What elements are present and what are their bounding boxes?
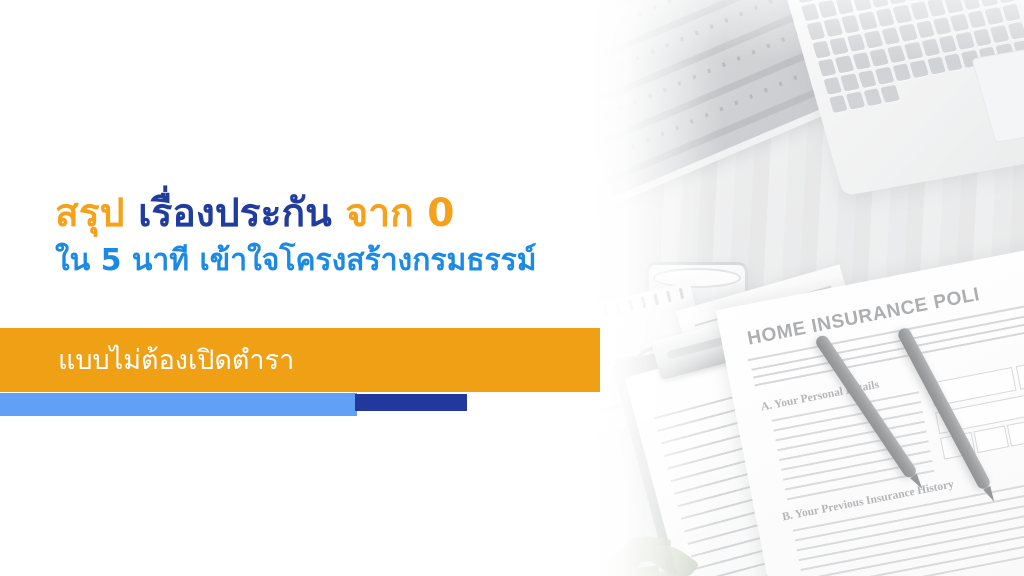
subtitle-banner-text: แบบไม่ต้องเปิดตำรา — [58, 347, 294, 374]
form-input-box — [973, 425, 1009, 453]
headline-segment-2: เรื่องประกัน — [138, 191, 345, 236]
headline-block: สรุป เรื่องประกัน จาก 0 ใน 5 นาที เข้าใจ… — [0, 190, 640, 280]
light-blue-accent-bar — [0, 393, 357, 416]
plant-icon — [594, 522, 714, 576]
form-input-box — [1016, 356, 1024, 389]
headline-segment-3: จาก 0 — [345, 191, 454, 236]
dark-blue-accent-bar — [355, 394, 467, 411]
cover-canvas: HOME INSURANCE POLI A. Your Personal Det… — [0, 0, 1024, 576]
subtitle-banner: แบบไม่ต้องเปิดตำรา — [0, 328, 600, 392]
headline-line-2: ใน 5 นาที เข้าใจโครงสร้างกรมธรรม์ — [55, 241, 640, 280]
hero-photo: HOME INSURANCE POLI A. Your Personal Det… — [554, 0, 1024, 576]
headline-line-1: สรุป เรื่องประกัน จาก 0 — [55, 190, 640, 239]
desk-surface: HOME INSURANCE POLI A. Your Personal Det… — [554, 0, 1024, 576]
headline-segment-1: สรุป — [55, 191, 138, 236]
